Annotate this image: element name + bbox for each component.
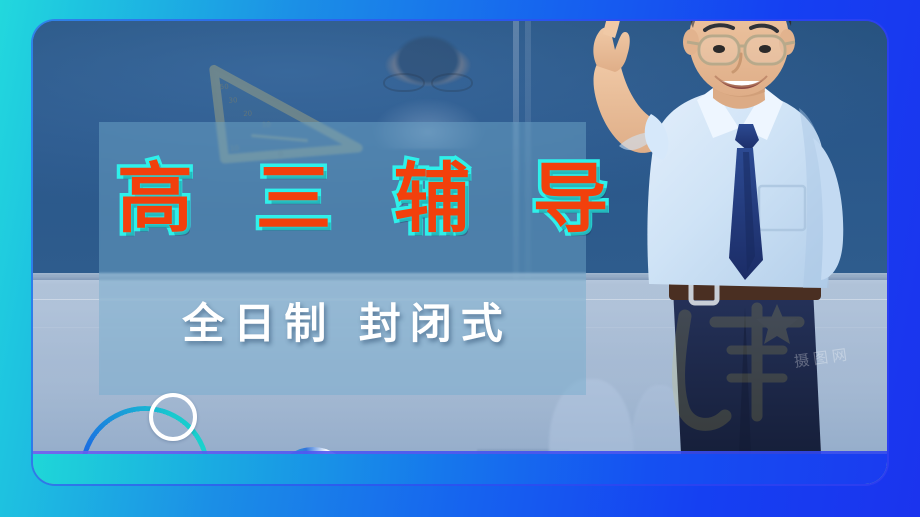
small-white-ring [149,393,197,441]
ghost-glasses-icon [375,73,481,89]
banner-stage: 5030 2010 100 [33,21,887,484]
bottom-gradient-bar [33,454,887,484]
page-title: 高 三 辅 导 [99,161,586,237]
subtitle: 全日制 封闭式 [99,303,586,345]
promo-banner: 5030 2010 100 [0,0,920,517]
svg-text:50: 50 [220,83,229,91]
svg-text:30: 30 [228,96,237,104]
svg-text:20: 20 [243,109,252,117]
